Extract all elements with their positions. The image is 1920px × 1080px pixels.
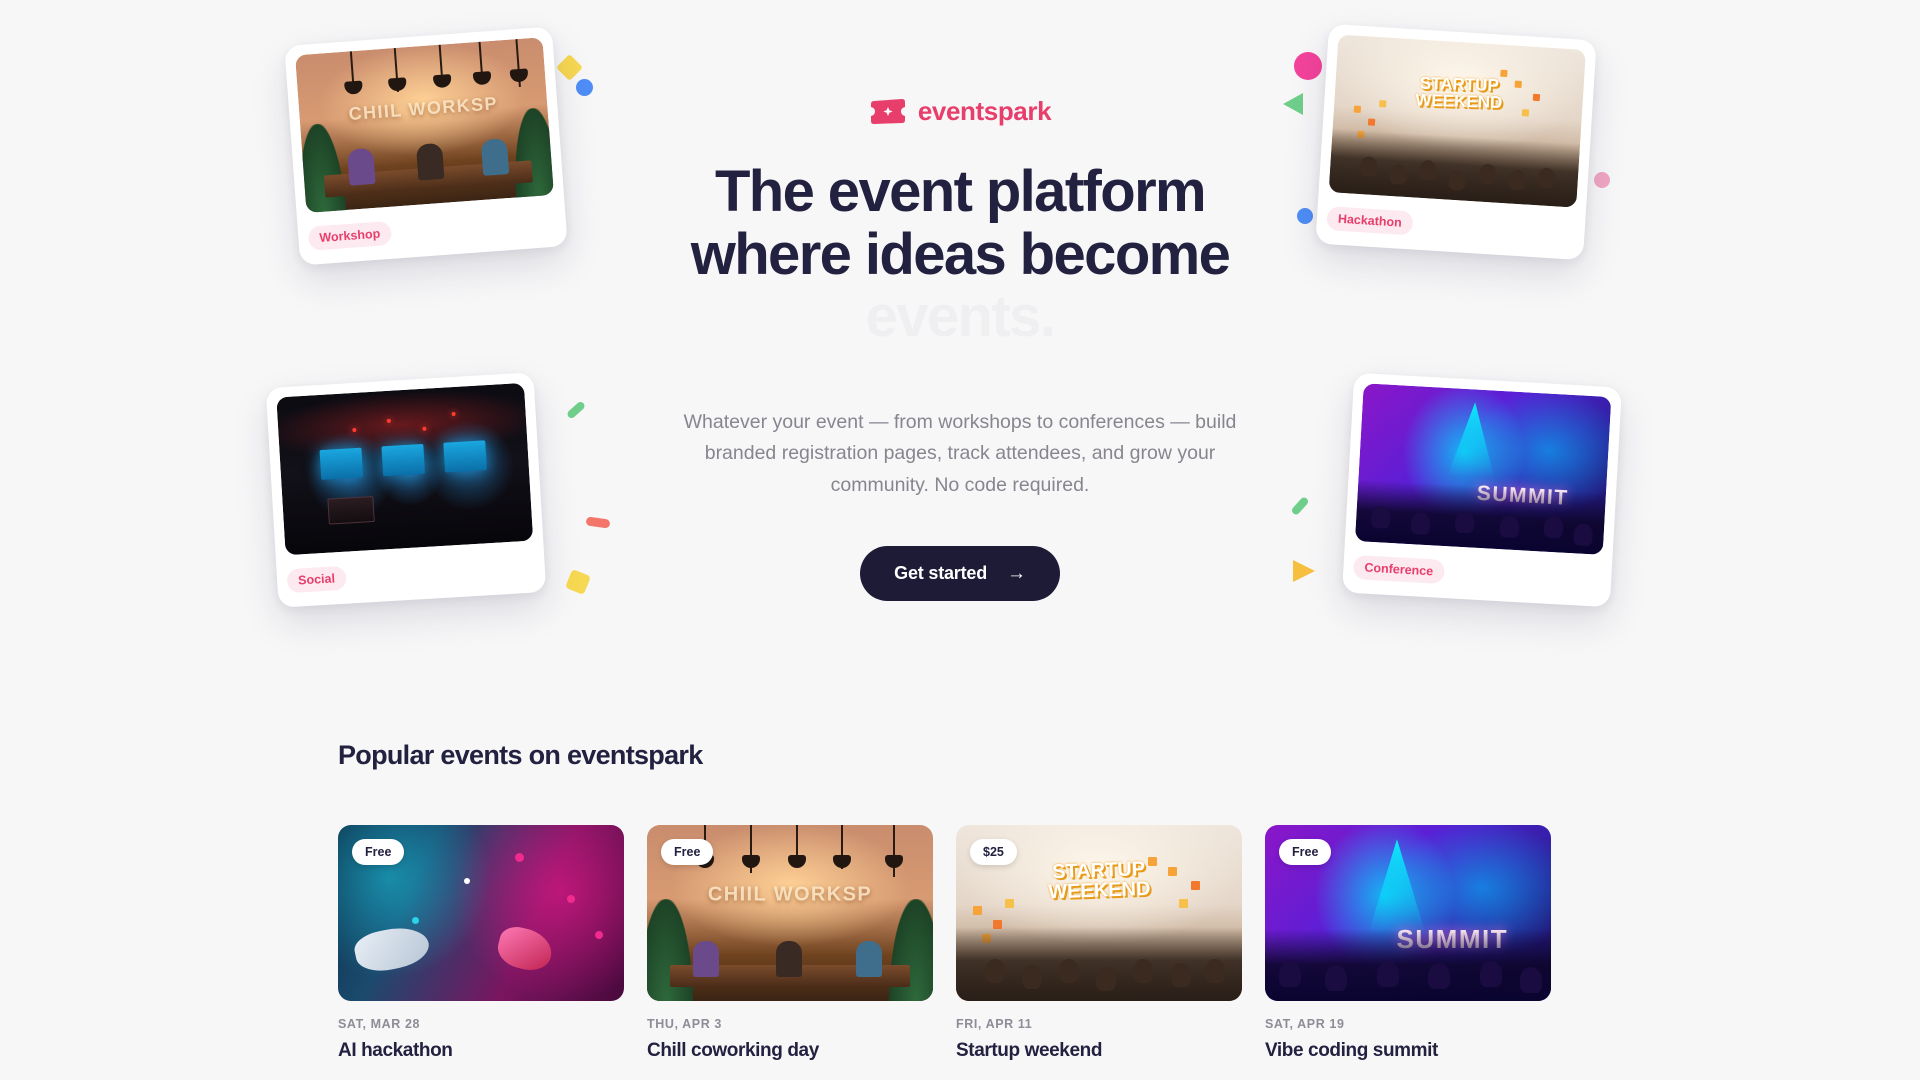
decor-diamond-yellow-mid <box>565 569 591 595</box>
floating-card-social[interactable]: Social <box>266 372 547 608</box>
decor-slash-green-mid <box>566 400 586 419</box>
hero-section: CHIIL WORKSP Workshop STARTUPWEEKEND <box>0 0 1920 720</box>
headline-line-1: The event platform <box>715 159 1205 224</box>
category-chip: Social <box>286 566 346 593</box>
event-card[interactable]: Free CHIIL WORKSP <box>647 825 933 1062</box>
price-badge: Free <box>1279 839 1331 865</box>
get-started-button[interactable]: Get started → <box>860 546 1060 601</box>
decor-circle-rose-right <box>1594 172 1610 188</box>
popular-events-section: Popular events on eventspark Free <box>0 740 1920 1062</box>
arrow-right-icon: → <box>1007 564 1026 583</box>
decor-circle-blue-left <box>576 79 593 96</box>
event-date: FRI, APR 11 <box>956 1017 1242 1031</box>
decor-slash-coral-mid <box>585 516 610 528</box>
brand-logo[interactable]: eventspark <box>650 96 1270 127</box>
floating-card-thumbnail: SUMMIT <box>1355 383 1611 555</box>
floating-card-workshop[interactable]: CHIIL WORKSP Workshop <box>284 26 567 265</box>
floating-card-thumbnail: STARTUPWEEKEND <box>1329 34 1586 207</box>
category-chip: Hackathon <box>1326 206 1413 235</box>
ticket-icon <box>869 98 907 125</box>
brand-name: eventspark <box>918 96 1051 127</box>
category-chip: Workshop <box>308 221 392 251</box>
event-card[interactable]: Free SUMMIT SAT, APR 19 Vibe coding s <box>1265 825 1551 1062</box>
event-date: SAT, MAR 28 <box>338 1017 624 1031</box>
decor-circle-magenta-right <box>1294 52 1322 80</box>
decor-triangle-yellow-conference <box>1293 560 1315 582</box>
landing-page: CHIIL WORKSP Workshop STARTUPWEEKEND <box>0 0 1920 1080</box>
price-badge: Free <box>352 839 404 865</box>
hero-subtitle: Whatever your event — from workshops to … <box>650 407 1270 502</box>
event-date: SAT, APR 19 <box>1265 1017 1551 1031</box>
event-thumbnail: Free CHIIL WORKSP <box>647 825 933 1001</box>
event-title: Vibe coding summit <box>1265 1040 1551 1062</box>
event-title: Startup weekend <box>956 1040 1242 1062</box>
event-card[interactable]: $25 STARTUPWEEKEND <box>956 825 1242 1062</box>
decor-circle-blue-right <box>1297 208 1313 224</box>
decor-triangle-green-right <box>1283 93 1303 115</box>
event-date: THU, APR 3 <box>647 1017 933 1031</box>
page-title: The event platform where ideas become ev… <box>650 161 1270 349</box>
floating-card-thumbnail: CHIIL WORKSP <box>295 37 554 213</box>
floating-card-hackathon[interactable]: STARTUPWEEKEND <box>1315 24 1596 260</box>
event-title: AI hackathon <box>338 1040 624 1062</box>
floating-card-thumbnail <box>276 383 533 555</box>
event-thumbnail: Free SUMMIT <box>1265 825 1551 1001</box>
get-started-label: Get started <box>894 563 987 584</box>
event-title: Chill coworking day <box>647 1040 933 1062</box>
section-title: Popular events on eventspark <box>338 740 1920 771</box>
category-chip: Conference <box>1353 555 1445 584</box>
event-thumbnail: Free <box>338 825 624 1001</box>
hero-content: eventspark The event platform where idea… <box>650 96 1270 601</box>
headline-line-3: events. <box>866 284 1055 349</box>
decor-diamond-yellow-left <box>556 54 583 81</box>
price-badge: $25 <box>970 839 1017 865</box>
decor-slash-green-conference <box>1290 496 1309 516</box>
headline-line-2: where ideas become <box>691 222 1230 287</box>
events-grid: Free SAT, MAR 28 AI hac <box>0 825 1920 1062</box>
price-badge: Free <box>661 839 713 865</box>
event-thumbnail: $25 STARTUPWEEKEND <box>956 825 1242 1001</box>
event-card[interactable]: Free SAT, MAR 28 AI hac <box>338 825 624 1062</box>
floating-card-conference[interactable]: SUMMIT Conference <box>1342 373 1622 608</box>
